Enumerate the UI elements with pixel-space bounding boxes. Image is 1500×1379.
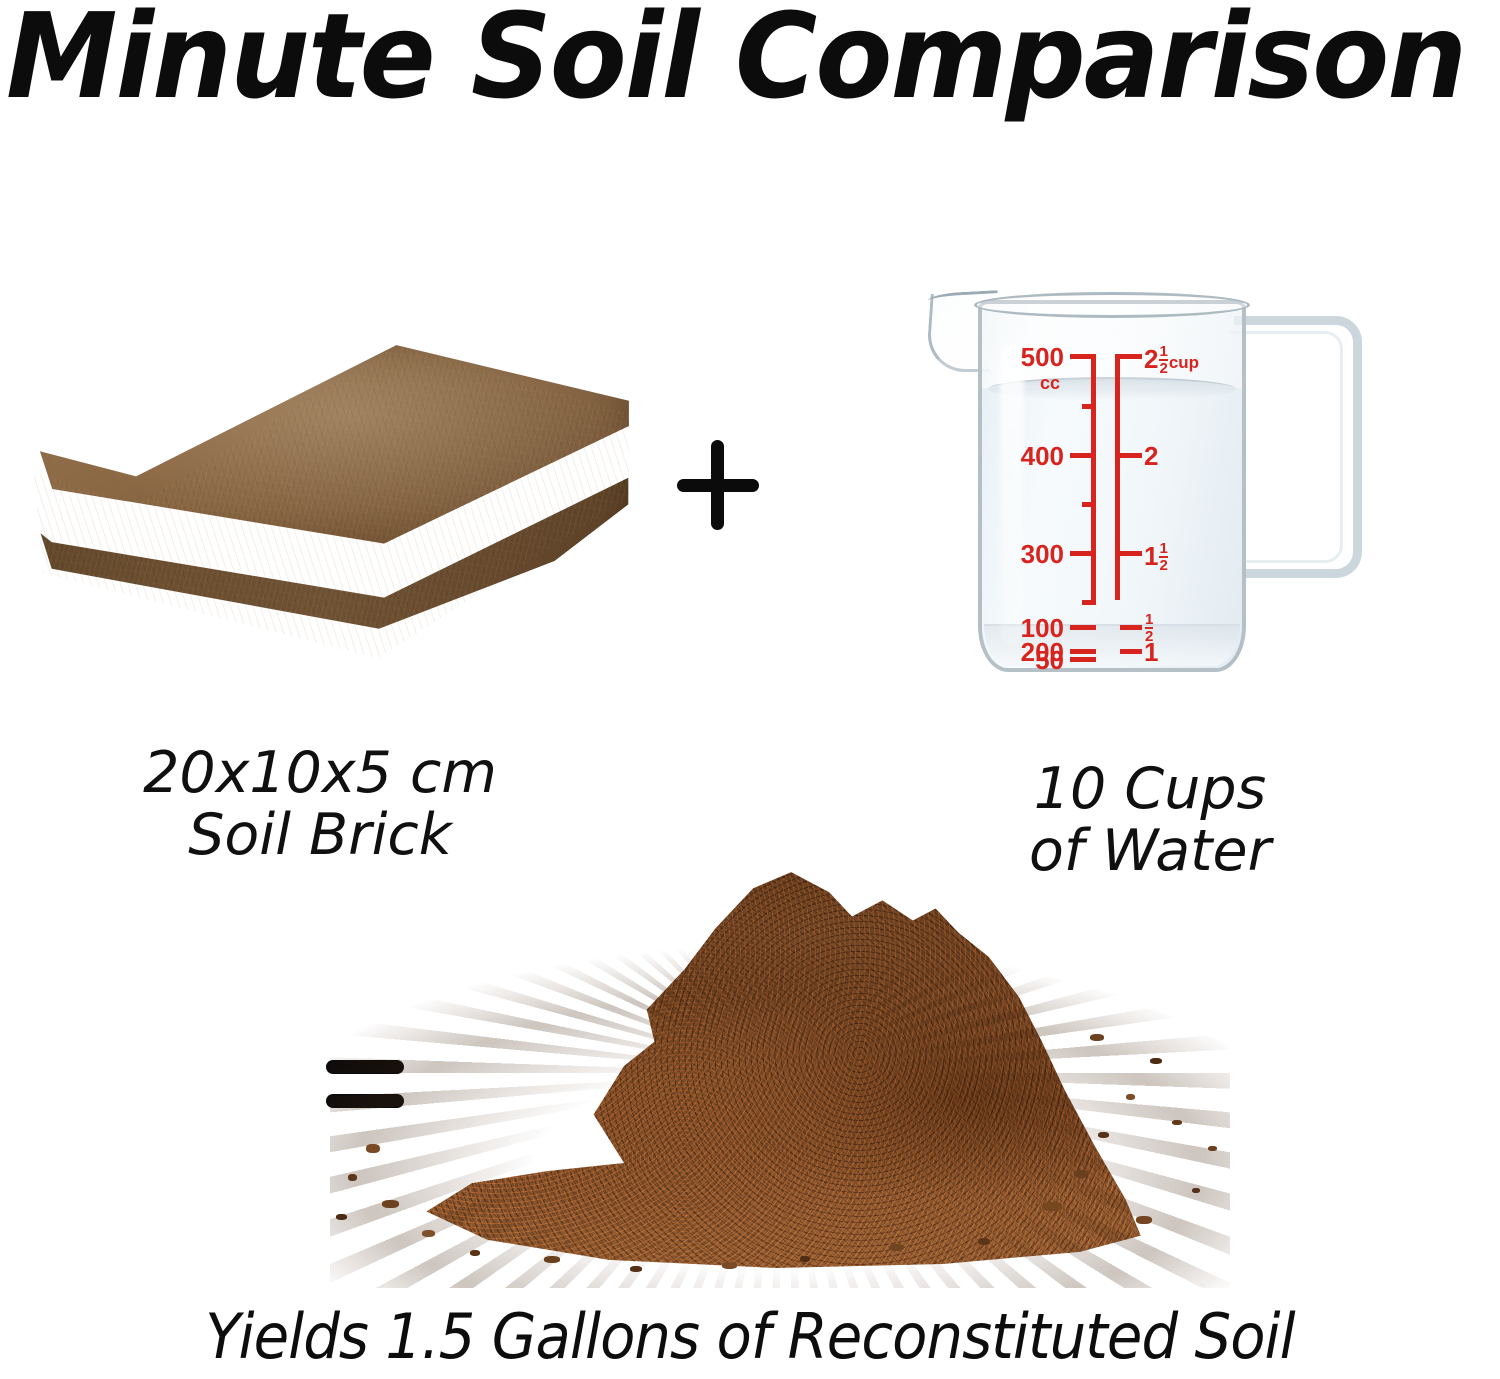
soil-crumb (348, 1174, 357, 1181)
soil-pile-image (330, 858, 1230, 1288)
soil-crumb (1172, 1120, 1182, 1125)
soil-crumb (800, 1256, 810, 1262)
brick-caption: 20x10x5 cm Soil Brick (40, 742, 600, 866)
cup-body (978, 300, 1246, 672)
measuring-cup-image: 500 cc 400 300 200 212cup 2 112 1 (926, 278, 1376, 682)
soil-crumb (336, 1214, 347, 1220)
yield-caption: Yields 1.5 Gallons of Reconstituted Soil (53, 1302, 1448, 1372)
soil-pile-edge-fringe (330, 858, 1230, 1288)
soil-crumb (1126, 1094, 1135, 1100)
soil-crumb (1098, 1132, 1109, 1138)
water-caption-line1: 10 Cups (930, 758, 1370, 820)
soil-crumb (1192, 1188, 1200, 1193)
soil-crumb (382, 1200, 399, 1208)
soil-crumb (366, 1144, 380, 1153)
soil-crumb (1074, 1170, 1088, 1178)
soil-crumb (978, 1238, 990, 1245)
cup-handle (1234, 316, 1362, 578)
minute-soil-comparison-infographic: Minute Soil Comparison (0, 0, 1500, 1379)
brick-caption-line1: 20x10x5 cm (40, 742, 600, 804)
plus-vertical-bar (711, 440, 724, 530)
soil-crumb (1136, 1216, 1152, 1224)
soil-crumb (1208, 1146, 1217, 1151)
soil-crumb (544, 1256, 560, 1263)
soil-brick-image (12, 342, 632, 682)
cup-glare-highlight (1000, 344, 1024, 644)
page-title: Minute Soil Comparison (6, 0, 1412, 116)
soil-crumb (470, 1250, 480, 1256)
brick-caption-line2: Soil Brick (40, 804, 600, 866)
soil-crumb (422, 1230, 435, 1237)
soil-crumb (722, 1262, 737, 1269)
soil-crumb (890, 1244, 904, 1251)
plus-operator-icon (672, 432, 764, 536)
soil-crumb (1042, 1202, 1062, 1211)
brick-top-face (12, 342, 632, 552)
soil-crumb (630, 1266, 642, 1272)
soil-crumb (1090, 1034, 1104, 1041)
cup-rim (974, 292, 1250, 318)
soil-crumb (1150, 1058, 1162, 1064)
